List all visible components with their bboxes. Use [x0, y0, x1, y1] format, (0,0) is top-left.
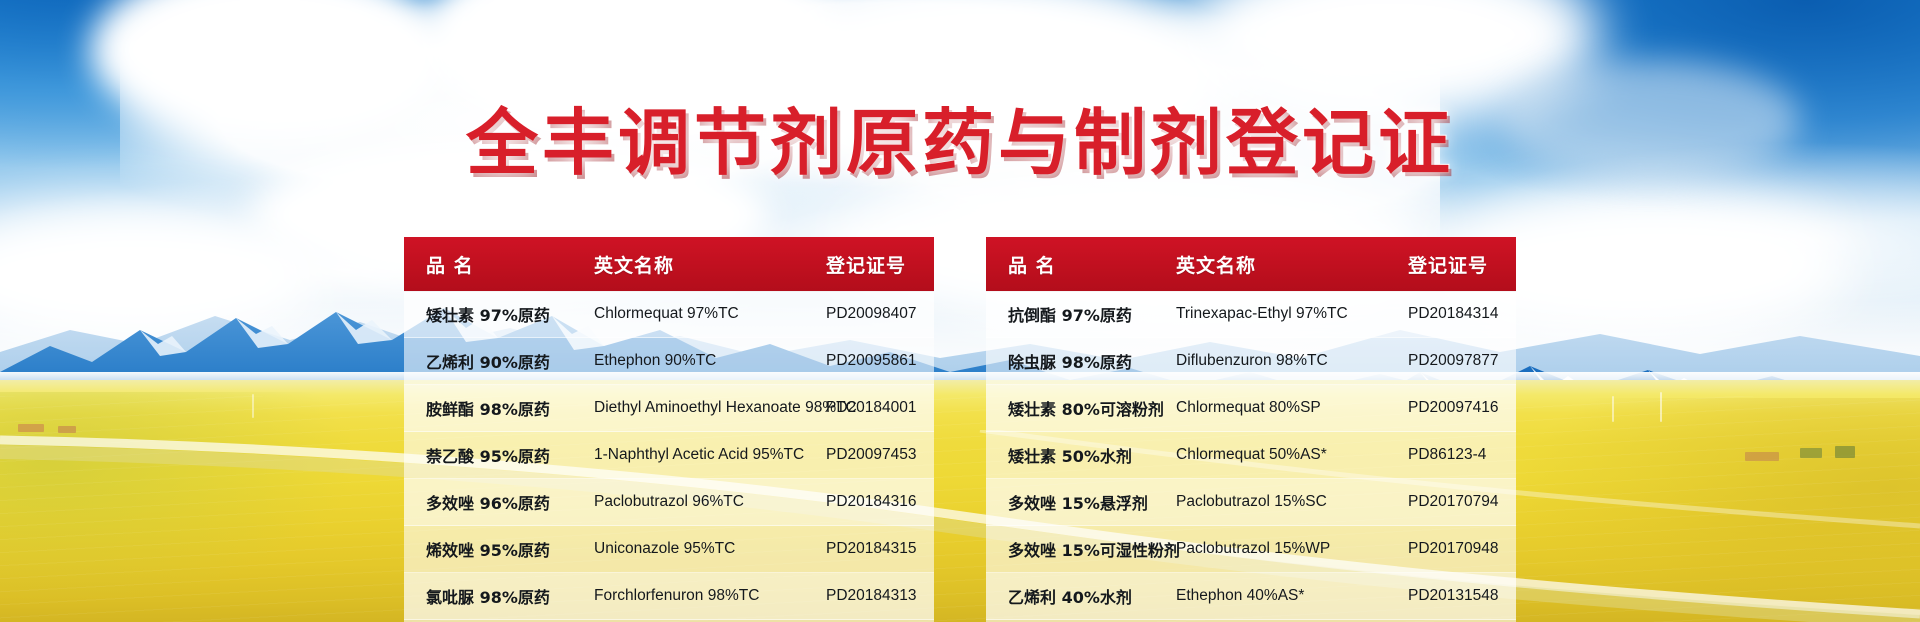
header-registration-no: 登记证号 — [826, 251, 934, 278]
cell-product-name: 乙烯利 90%原药 — [404, 349, 594, 373]
cell-english-name: Diethyl Aminoethyl Hexanoate 98%TC — [594, 399, 826, 417]
cell-english-name: Chlormequat 97%TC — [594, 305, 826, 323]
table-row: 多效唑 15%可湿性粉剂 Paclobutrazol 15%WP PD20170… — [986, 526, 1516, 573]
cell-product-name: 乙烯利 40%水剂 — [986, 584, 1176, 608]
table-row: 氯吡脲 98%原药 Forchlorfenuron 98%TC PD201843… — [404, 573, 934, 620]
cell-registration-no: PD20184315 — [826, 540, 934, 558]
cell-product-name: 抗倒酯 97%原药 — [986, 302, 1176, 326]
cell-registration-no: PD20184316 — [826, 493, 934, 511]
cell-registration-no: PD20184314 — [1408, 305, 1516, 323]
cell-product-name: 除虫脲 98%原药 — [986, 349, 1176, 373]
left-table-body: 矮壮素 97%原药 Chlormequat 97%TC PD20098407 乙… — [404, 291, 934, 622]
cell-english-name: Forchlorfenuron 98%TC — [594, 587, 826, 605]
cell-product-name: 萘乙酸 95%原药 — [404, 443, 594, 467]
cell-registration-no: PD20098407 — [826, 305, 934, 323]
header-english-name: 英文名称 — [1176, 251, 1408, 278]
cell-registration-no: PD20184001 — [826, 399, 934, 417]
table-row: 矮壮素 97%原药 Chlormequat 97%TC PD20098407 — [404, 291, 934, 338]
header-english-name: 英文名称 — [594, 251, 826, 278]
cell-product-name: 多效唑 15%可湿性粉剂 — [986, 537, 1176, 561]
cell-english-name: Chlormequat 50%AS* — [1176, 446, 1408, 464]
cell-registration-no: PD20170948 — [1408, 540, 1516, 558]
page-title-text: 全丰调节剂原药与制剂登记证 — [466, 84, 1454, 189]
cell-english-name: Paclobutrazol 15%WP — [1176, 540, 1408, 558]
cell-registration-no: PD20095861 — [826, 352, 934, 370]
cell-english-name: Ethephon 90%TC — [594, 352, 826, 370]
table-row: 乙烯利 40%水剂 Ethephon 40%AS* PD20131548 — [986, 573, 1516, 620]
table-row: 多效唑 96%原药 Paclobutrazol 96%TC PD20184316 — [404, 479, 934, 526]
cell-registration-no: PD20184313 — [826, 587, 934, 605]
header-registration-no: 登记证号 — [1408, 251, 1516, 278]
table-row: 胺鲜酯 98%原药 Diethyl Aminoethyl Hexanoate 9… — [404, 385, 934, 432]
cell-product-name: 氯吡脲 98%原药 — [404, 584, 594, 608]
cell-product-name: 烯效唑 95%原药 — [404, 537, 594, 561]
cell-registration-no: PD20170794 — [1408, 493, 1516, 511]
table-row: 矮壮素 50%水剂 Chlormequat 50%AS* PD86123-4 — [986, 432, 1516, 479]
cell-registration-no: PD20131548 — [1408, 587, 1516, 605]
table-row: 多效唑 15%悬浮剂 Paclobutrazol 15%SC PD2017079… — [986, 479, 1516, 526]
cell-english-name: Trinexapac-Ethyl 97%TC — [1176, 305, 1408, 323]
right-table-body: 抗倒酯 97%原药 Trinexapac-Ethyl 97%TC PD20184… — [986, 291, 1516, 622]
table-row: 烯效唑 95%原药 Uniconazole 95%TC PD20184315 — [404, 526, 934, 573]
header-product-name: 品 名 — [404, 251, 594, 278]
table-row: 乙烯利 90%原药 Ethephon 90%TC PD20095861 — [404, 338, 934, 385]
cell-english-name: Diflubenzuron 98%TC — [1176, 352, 1408, 370]
cell-product-name: 矮壮素 97%原药 — [404, 302, 594, 326]
table-row: 矮壮素 80%可溶粉剂 Chlormequat 80%SP PD20097416 — [986, 385, 1516, 432]
cell-english-name: Paclobutrazol 15%SC — [1176, 493, 1408, 511]
cell-english-name: Chlormequat 80%SP — [1176, 399, 1408, 417]
table-row: 抗倒酯 97%原药 Trinexapac-Ethyl 97%TC PD20184… — [986, 291, 1516, 338]
registration-tables: 品 名 英文名称 登记证号 矮壮素 97%原药 Chlormequat 97%T… — [0, 237, 1920, 622]
cell-english-name: Ethephon 40%AS* — [1176, 587, 1408, 605]
cell-english-name: Uniconazole 95%TC — [594, 540, 826, 558]
cell-product-name: 矮壮素 50%水剂 — [986, 443, 1176, 467]
cell-english-name: 1-Naphthyl Acetic Acid 95%TC — [594, 446, 826, 464]
header-product-name: 品 名 — [986, 251, 1176, 278]
page-title: 全丰调节剂原药与制剂登记证 — [0, 84, 1920, 189]
cell-product-name: 胺鲜酯 98%原药 — [404, 396, 594, 420]
table-row: 萘乙酸 95%原药 1-Naphthyl Acetic Acid 95%TC P… — [404, 432, 934, 479]
right-table-header-row: 品 名 英文名称 登记证号 — [986, 237, 1516, 291]
table-row: 除虫脲 98%原药 Diflubenzuron 98%TC PD20097877 — [986, 338, 1516, 385]
cell-registration-no: PD20097877 — [1408, 352, 1516, 370]
left-table-header-row: 品 名 英文名称 登记证号 — [404, 237, 934, 291]
cell-registration-no: PD86123-4 — [1408, 446, 1516, 464]
cell-english-name: Paclobutrazol 96%TC — [594, 493, 826, 511]
cell-product-name: 多效唑 15%悬浮剂 — [986, 490, 1176, 514]
right-table: 品 名 英文名称 登记证号 抗倒酯 97%原药 Trinexapac-Ethyl… — [986, 237, 1516, 622]
cell-registration-no: PD20097453 — [826, 446, 934, 464]
cell-product-name: 多效唑 96%原药 — [404, 490, 594, 514]
left-table: 品 名 英文名称 登记证号 矮壮素 97%原药 Chlormequat 97%T… — [404, 237, 934, 622]
cell-registration-no: PD20097416 — [1408, 399, 1516, 417]
cell-product-name: 矮壮素 80%可溶粉剂 — [986, 396, 1176, 420]
